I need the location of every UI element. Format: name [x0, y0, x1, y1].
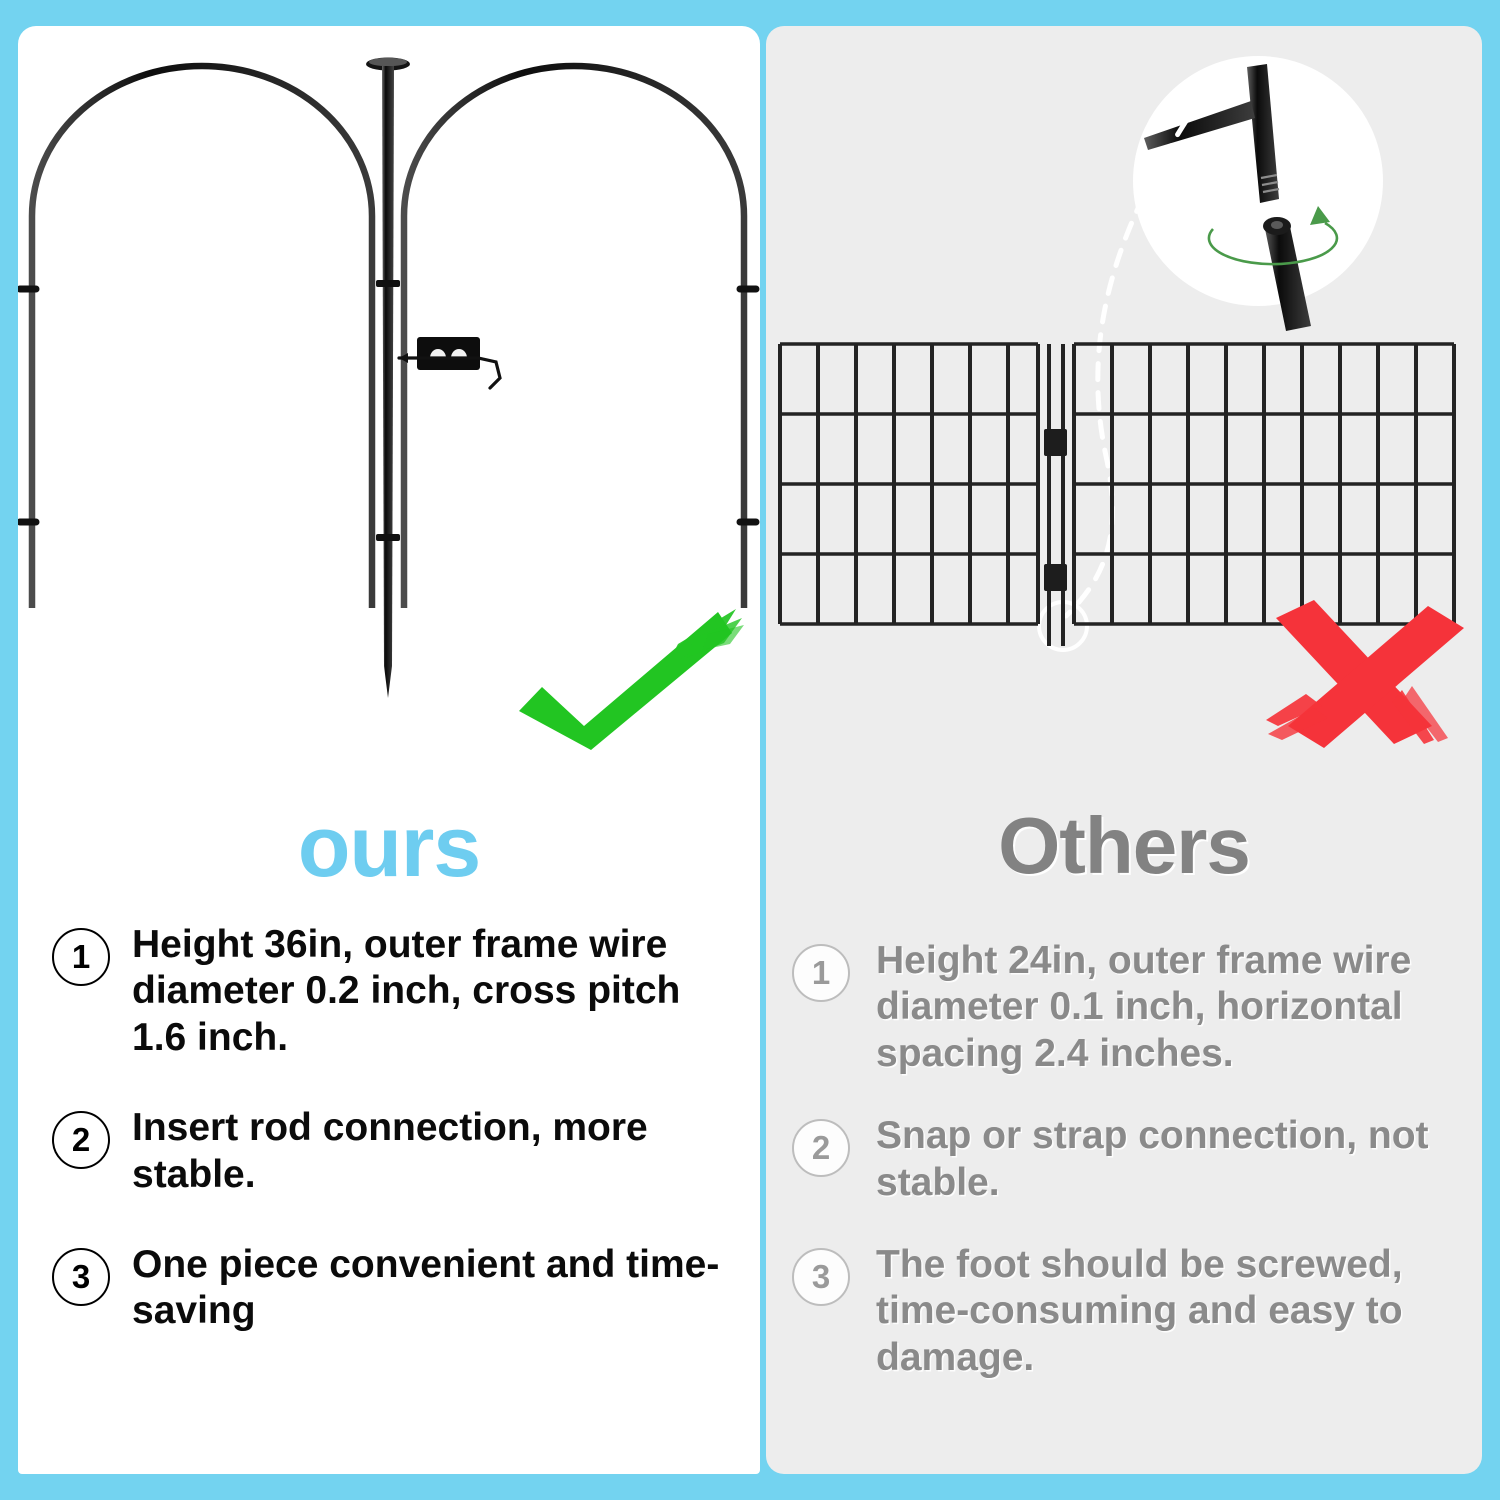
others-fence-svg	[766, 26, 1482, 786]
feature-item-2: 2 Snap or strap connection, not stable.	[792, 1113, 1458, 1206]
feature-number-badge: 3	[792, 1248, 850, 1306]
feature-number-badge: 1	[52, 928, 110, 986]
others-heading: Others	[766, 806, 1482, 886]
ours-panel: ours 1 Height 36in, outer frame wire dia…	[18, 26, 760, 1474]
ours-heading: ours	[18, 804, 760, 890]
feature-number-badge: 2	[52, 1111, 110, 1169]
connector-clip	[417, 337, 480, 370]
snap-clip-upper	[1044, 429, 1067, 456]
feature-text: Height 24in, outer frame wire diameter 0…	[876, 938, 1458, 1077]
rod-collar-upper	[376, 280, 400, 287]
others-illustration	[766, 26, 1482, 786]
feature-text: Snap or strap connection, not stable.	[876, 1113, 1458, 1206]
screw-foot-zoom-inset	[1133, 56, 1383, 331]
green-check-icon	[519, 609, 744, 750]
feature-number-badge: 3	[52, 1248, 110, 1306]
feature-item-3: 3 One piece convenient and time-saving	[52, 1242, 734, 1335]
rod-shaft-and-tip	[382, 66, 394, 698]
rod-collar-lower	[376, 534, 400, 541]
red-cross-icon	[1266, 600, 1464, 748]
feature-text: One piece convenient and time-saving	[132, 1242, 734, 1335]
feature-text: Height 36in, outer frame wire diameter 0…	[132, 922, 734, 1061]
feature-number-badge: 2	[792, 1119, 850, 1177]
feature-text: Insert rod connection, more stable.	[132, 1105, 734, 1198]
ours-fence-svg	[18, 26, 760, 786]
snap-clip-lower	[1044, 564, 1067, 591]
feature-item-3: 3 The foot should be screwed, time-consu…	[792, 1242, 1458, 1381]
feature-number-badge: 1	[792, 944, 850, 1002]
feature-item-1: 1 Height 36in, outer frame wire diameter…	[52, 922, 734, 1061]
feature-text: The foot should be screwed, time-consumi…	[876, 1242, 1458, 1381]
comparison-infographic: ours 1 Height 36in, outer frame wire dia…	[0, 0, 1500, 1500]
right-grid-fence-panel	[1074, 344, 1454, 624]
others-feature-list: 1 Height 24in, outer frame wire diameter…	[766, 938, 1482, 1417]
feature-item-2: 2 Insert rod connection, more stable.	[52, 1105, 734, 1198]
feature-item-1: 1 Height 24in, outer frame wire diameter…	[792, 938, 1458, 1077]
others-panel: Others 1 Height 24in, outer frame wire d…	[766, 26, 1482, 1474]
ours-illustration	[18, 26, 760, 786]
left-grid-fence-panel	[780, 344, 1038, 624]
left-arched-fence-panel	[20, 66, 372, 631]
ours-feature-list: 1 Height 36in, outer frame wire diameter…	[18, 922, 760, 1379]
